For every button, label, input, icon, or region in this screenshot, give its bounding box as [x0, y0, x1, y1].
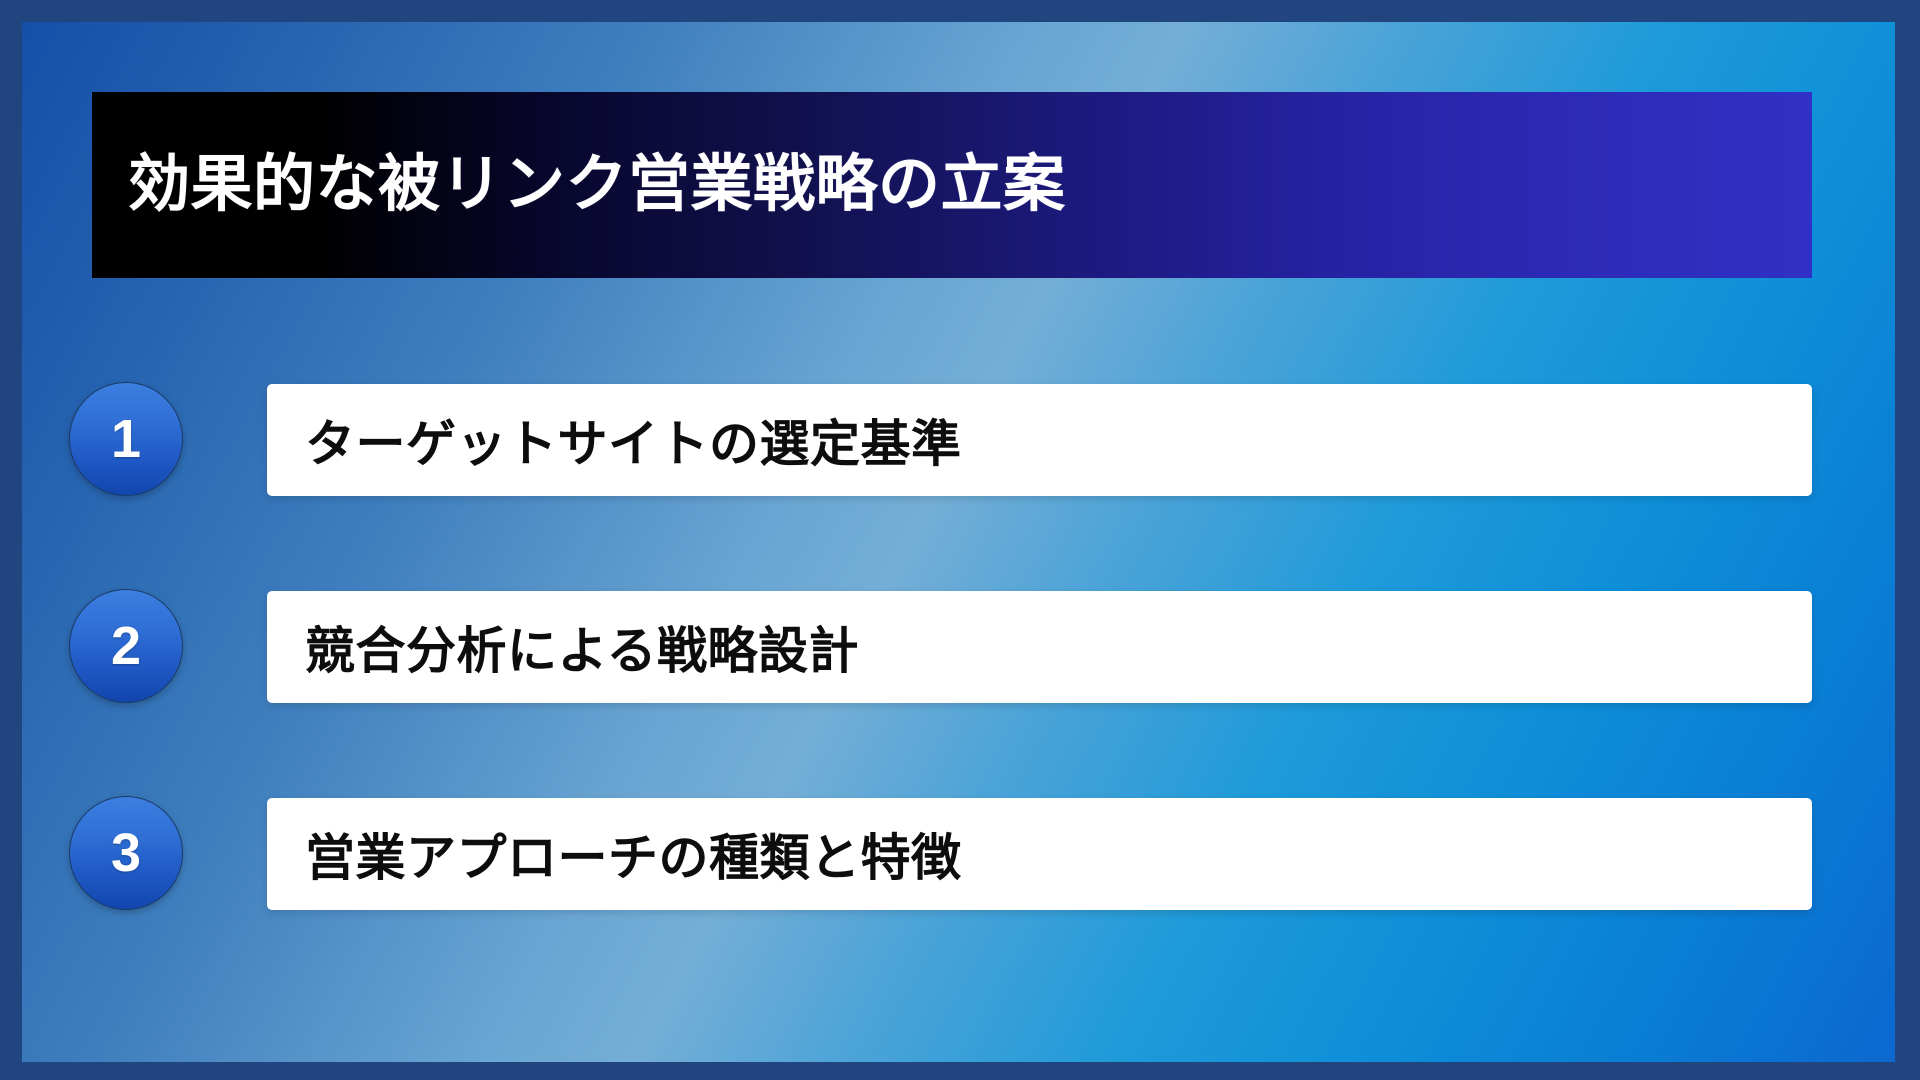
slide-title-bar: 効果的な被リンク営業戦略の立案 — [92, 92, 1812, 278]
agenda-card-label: 営業アプローチの種類と特徴 — [305, 818, 962, 890]
step-number-badge: 2 — [69, 589, 183, 703]
agenda-card[interactable]: 競合分析による戦略設計 — [267, 591, 1812, 703]
agenda-card-label: ターゲットサイトの選定基準 — [305, 404, 962, 476]
step-number-badge: 3 — [69, 796, 183, 910]
numbered-agenda-list: 1 ターゲットサイトの選定基準 2 競合分析による戦略設計 3 — [22, 382, 1895, 908]
step-number-label: 3 — [111, 826, 141, 880]
slide-canvas: 効果的な被リンク営業戦略の立案 1 ターゲットサイトの選定基準 2 競合分析によ… — [22, 22, 1895, 1062]
agenda-card[interactable]: ターゲットサイトの選定基準 — [267, 384, 1812, 496]
page-title: 効果的な被リンク営業戦略の立案 — [128, 151, 1066, 219]
step-number-badge: 1 — [69, 382, 183, 496]
list-item[interactable]: 3 営業アプローチの種類と特徴 — [22, 796, 1895, 908]
agenda-card-label: 競合分析による戦略設計 — [305, 611, 859, 683]
list-item[interactable]: 2 競合分析による戦略設計 — [22, 589, 1895, 701]
list-item[interactable]: 1 ターゲットサイトの選定基準 — [22, 382, 1895, 494]
agenda-card[interactable]: 営業アプローチの種類と特徴 — [267, 798, 1812, 910]
step-number-label: 2 — [111, 619, 141, 673]
slide-frame: 効果的な被リンク営業戦略の立案 1 ターゲットサイトの選定基準 2 競合分析によ… — [0, 0, 1920, 1080]
step-number-label: 1 — [111, 412, 141, 466]
